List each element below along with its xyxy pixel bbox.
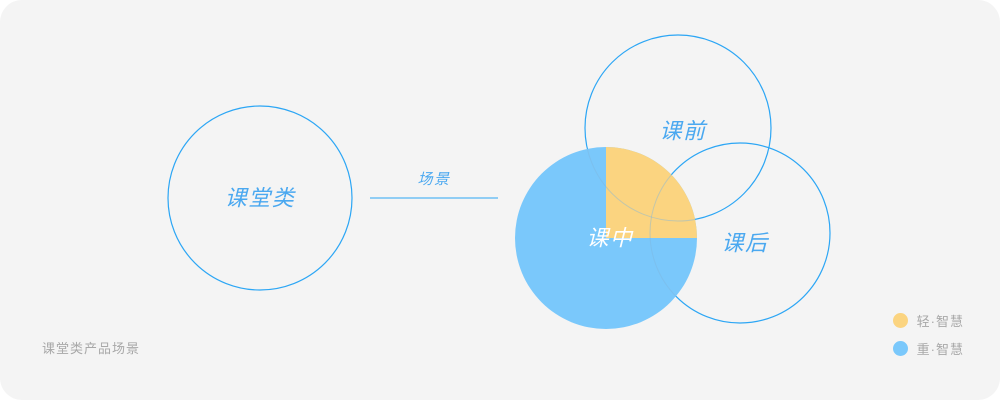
legend-item-light: 轻·智慧 — [893, 311, 964, 330]
circle-classroom-category-label: 课堂类 — [225, 186, 297, 211]
legend-label-heavy: 重·智慧 — [917, 339, 964, 358]
connector-label: 场景 — [417, 171, 450, 188]
circle-during-class — [515, 35, 830, 329]
venn-diagram-canvas: 课堂类 场景 课前 课后 课中 — [0, 0, 1000, 400]
circle-during-class-label: 课中 — [586, 226, 634, 251]
legend-dot-light-icon — [893, 313, 908, 328]
legend-label-light: 轻·智慧 — [917, 311, 964, 330]
diagram-card: 课堂类 场景 课前 课后 课中 课堂类产品场景 — [0, 0, 1000, 400]
circle-during-class-accent-quadrant — [606, 147, 697, 238]
legend-dot-heavy-icon — [893, 341, 908, 356]
legend: 轻·智慧 重·智慧 — [893, 311, 964, 358]
circle-before-class-label: 课前 — [659, 119, 708, 144]
circle-after-class-label: 课后 — [721, 231, 770, 256]
legend-item-heavy: 重·智慧 — [893, 339, 964, 358]
diagram-caption: 课堂类产品场景 — [42, 338, 140, 357]
